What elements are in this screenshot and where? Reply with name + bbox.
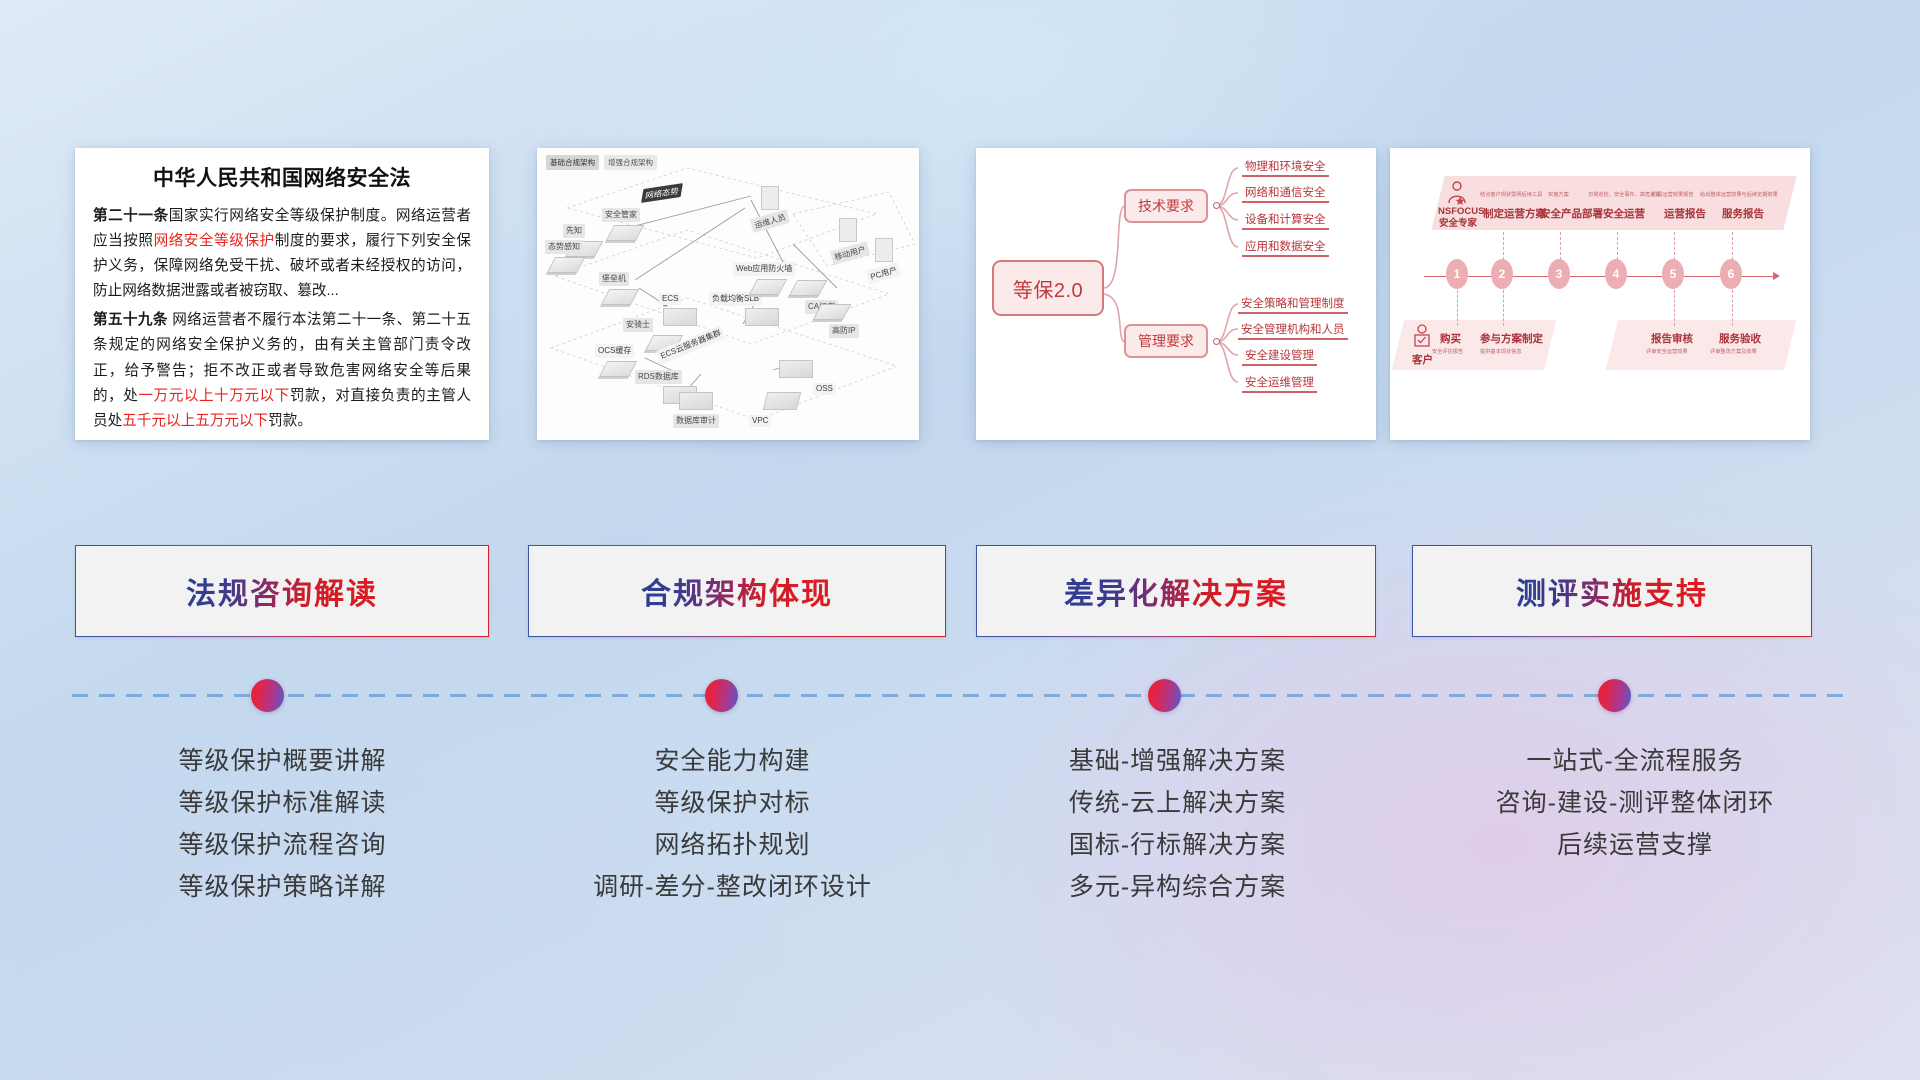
node-ops-staff: 运维人员 (751, 186, 789, 228)
slab-icon (763, 392, 801, 410)
law-59-highlight-1: 一万元以上十万元以下 (138, 388, 289, 404)
card-nsfocus-timeline[interactable]: NSFOCUS安全专家 客户 1 购买 安全评估报告 2 (1390, 148, 1810, 440)
step-top-sub: 结合客户现状需明后续工具 (1480, 191, 1542, 198)
list-item: 安全能力构建 (510, 740, 955, 782)
node-ecs: ECS (659, 288, 697, 326)
mindmap-leaf: 安全建设管理 (1242, 347, 1317, 366)
node-situation-awareness: 态势感知 (545, 236, 583, 273)
section-title-label: 测评实施支持 (1516, 569, 1708, 613)
section-titles-row: 法规咨询解读 合规架构体现 差异化解决方案 测评实施支持 (0, 545, 1920, 637)
collapse-dot-icon[interactable] (1213, 202, 1220, 209)
slab-icon (679, 392, 713, 410)
feature-column-3: 基础-增强解决方案 传统-云上解决方案 国标-行标解决方案 多元-异构综合方案 (955, 740, 1400, 908)
step-leader (1457, 290, 1458, 326)
node-pc-user: PC用户 (867, 238, 900, 280)
architecture-canvas: 基础合规架构 增强合规架构 (537, 148, 919, 440)
slide-canvas: 中华人民共和国网络安全法 第二十一条国家实行网络安全等级保护制度。网络运营者应当… (0, 0, 1920, 1080)
section-title-box-2[interactable]: 合规架构体现 (528, 545, 946, 637)
step-leader (1674, 232, 1675, 260)
timeline-dashed-line (72, 694, 1852, 697)
mindmap-leaf: 网络和通信安全 (1242, 184, 1329, 203)
collapse-dot-icon[interactable] (1213, 338, 1220, 345)
slab-icon (779, 360, 813, 378)
step-marker[interactable]: 6 (1720, 259, 1742, 289)
step-leader (1674, 290, 1675, 326)
cube-icon (547, 257, 586, 273)
list-item: 等级保护标准解读 (60, 782, 505, 824)
list-item: 等级保护流程咨询 (60, 824, 505, 866)
mindmap-leaf: 应用和数据安全 (1242, 238, 1329, 257)
list-item: 等级保护对标 (510, 782, 955, 824)
feature-column-4: 一站式-全流程服务 咨询-建设-测评整体闭环 后续运营支撑 (1400, 740, 1870, 866)
node-security-steward: 安全管家 (602, 204, 640, 241)
law-paragraph-59: 第五十九条 网络运营者不履行本法第二十一条、第二十五条规定的网络安全保护义务的，… (93, 308, 471, 433)
list-item: 等级保护概要讲解 (60, 740, 505, 782)
section-title-label: 合规架构体现 (641, 569, 833, 613)
slab-icon (663, 308, 697, 326)
list-item: 传统-云上解决方案 (955, 782, 1400, 824)
customer-avatar-icon (1412, 324, 1432, 350)
section-title-box-3[interactable]: 差异化解决方案 (976, 545, 1376, 637)
law-21-highlight: 网络安全等级保护 (154, 233, 275, 249)
step-marker[interactable]: 4 (1605, 259, 1627, 289)
slab-icon (745, 308, 779, 326)
expert-label: NSFOCUS安全专家 (1438, 206, 1478, 230)
step-bottom-sub: 评审安全运营效果 (1646, 348, 1688, 355)
step-leader (1503, 232, 1504, 260)
step-bottom-label: 报告审核 (1651, 331, 1693, 346)
timeline-dot-3[interactable] (1148, 679, 1181, 712)
timeline-dot-4[interactable] (1598, 679, 1631, 712)
node-network-situation: 网络态势 (643, 182, 681, 200)
person-icon (839, 218, 857, 242)
step-marker[interactable]: 1 (1446, 259, 1468, 289)
law-body: 中华人民共和国网络安全法 第二十一条国家实行网络安全等级保护制度。网络运营者应当… (75, 148, 489, 440)
mindmap-branch-technical: 技术要求 (1124, 189, 1208, 223)
mindmap-leaf: 安全运维管理 (1242, 374, 1317, 393)
step-top-sub: 日常巡检、安全事件、高危处置 (1588, 191, 1661, 198)
step-leader (1732, 232, 1733, 260)
step-marker[interactable]: 2 (1491, 259, 1513, 289)
list-item: 等级保护策略详解 (60, 866, 505, 908)
step-top-label: 服务报告 (1722, 206, 1764, 221)
cube-icon (813, 304, 852, 320)
step-top-label: 制定运营方案 (1483, 206, 1546, 221)
step-leader (1503, 290, 1504, 326)
expert-avatar-icon (1446, 181, 1468, 205)
node-vpc: VPC (749, 392, 799, 428)
section-title-label: 法规咨询解读 (186, 569, 378, 613)
cube-icon (601, 289, 640, 305)
node-bastion-host: 堡垒机 (599, 268, 635, 305)
node-oss: OSS (771, 360, 836, 396)
nsfocus-canvas: NSFOCUS安全专家 客户 1 购买 安全评估报告 2 (1390, 148, 1810, 440)
card-law-text[interactable]: 中华人民共和国网络安全法 第二十一条国家实行网络安全等级保护制度。网络运营者应当… (75, 148, 489, 440)
list-item: 一站式-全流程服务 (1400, 740, 1870, 782)
feature-column-2: 安全能力构建 等级保护对标 网络拓扑规划 调研-差分-整改闭环设计 (510, 740, 955, 908)
mindmap-leaf: 设备和计算安全 (1242, 211, 1329, 230)
card-mindmap[interactable]: 等保2.0 技术要求 物理和环境安全 网络和通信安全 设备和计算安全 应用和数据… (976, 148, 1376, 440)
node-anti-ddos-ip: 高防IP (807, 304, 859, 338)
mindmap-leaf: 安全管理机构和人员 (1238, 321, 1348, 340)
section-title-box-1[interactable]: 法规咨询解读 (75, 545, 489, 637)
node-db-audit: 数据库审计 (673, 392, 719, 428)
node-ocs-cache: OCS缓存 (595, 340, 634, 377)
cards-row: 中华人民共和国网络安全法 第二十一条国家实行网络安全等级保护制度。网络运营者应当… (0, 148, 1920, 448)
step-top-label: 安全运营 (1603, 206, 1645, 221)
timeline-dot-2[interactable] (705, 679, 738, 712)
step-bottom-label: 购买 (1440, 331, 1461, 346)
step-top-sub: 给出整体运营效果与后续定期效果 (1700, 191, 1778, 198)
mindmap-canvas: 等保2.0 技术要求 物理和环境安全 网络和通信安全 设备和计算安全 应用和数据… (976, 148, 1376, 440)
step-leader (1617, 232, 1618, 260)
mindmap-leaf: 物理和环境安全 (1242, 158, 1329, 177)
feature-columns: 等级保护概要讲解 等级保护标准解读 等级保护流程咨询 等级保护策略详解 安全能力… (0, 740, 1920, 980)
law-title: 中华人民共和国网络安全法 (93, 162, 471, 192)
step-marker[interactable]: 5 (1662, 259, 1684, 289)
cube-icon (606, 225, 645, 241)
law-article-59-lead: 第五十九条 (93, 312, 168, 328)
law-59-highlight-2: 五千元以上五万元以下 (122, 413, 268, 429)
person-icon (875, 238, 893, 262)
step-leader (1560, 232, 1561, 260)
step-bottom-sub: 安全评估报告 (1432, 348, 1463, 355)
list-item: 网络拓扑规划 (510, 824, 955, 866)
law-59-text-c: 罚款。 (268, 413, 312, 429)
step-bottom-label: 参与方案制定 (1480, 331, 1543, 346)
mindmap-root: 等保2.0 (992, 260, 1104, 316)
step-bottom-sub: 评审整改方案及效果 (1710, 348, 1757, 355)
step-bottom-sub: 提供基本现状信息 (1480, 348, 1522, 355)
step-top-sub: 实施方案 (1548, 191, 1569, 198)
mindmap-branch-management: 管理要求 (1124, 324, 1208, 358)
law-paragraph-21: 第二十一条国家实行网络安全等级保护制度。网络运营者应当按照网络安全等级保护制度的… (93, 204, 471, 304)
list-item: 后续运营支撑 (1400, 824, 1870, 866)
customer-band-right (1606, 320, 1796, 370)
step-leader (1732, 290, 1733, 326)
mindmap-leaf: 安全策略和管理制度 (1238, 295, 1348, 314)
list-item: 多元-异构综合方案 (955, 866, 1400, 908)
timeline-dot-1[interactable] (251, 679, 284, 712)
section-title-label: 差异化解决方案 (1064, 569, 1288, 613)
step-bottom-label: 服务验收 (1719, 331, 1761, 346)
expert-band (1431, 176, 1796, 230)
step-marker[interactable]: 3 (1548, 259, 1570, 289)
cube-icon (599, 361, 638, 377)
list-item: 国标-行标解决方案 (955, 824, 1400, 866)
list-item: 基础-增强解决方案 (955, 740, 1400, 782)
law-article-21-lead: 第二十一条 (93, 208, 169, 224)
section-title-box-4[interactable]: 测评实施支持 (1412, 545, 1812, 637)
feature-column-1: 等级保护概要讲解 等级保护标准解读 等级保护流程咨询 等级保护策略详解 (60, 740, 505, 908)
step-top-label: 安全产品部署 (1540, 206, 1603, 221)
cube-icon (789, 280, 828, 296)
timeline-arrow-icon (1773, 272, 1780, 280)
step-top-label: 运营报告 (1664, 206, 1706, 221)
node-mobile-user: 移动用户 (831, 218, 869, 260)
customer-label: 客户 (1412, 352, 1433, 367)
card-architecture-diagram[interactable]: 基础合规架构 增强合规架构 (537, 148, 919, 440)
list-item: 咨询-建设-测评整体闭环 (1400, 782, 1870, 824)
list-item: 调研-差分-整改闭环设计 (510, 866, 955, 908)
person-icon (761, 186, 779, 210)
step-top-sub: 阶段运营效果报告 (1652, 191, 1694, 198)
